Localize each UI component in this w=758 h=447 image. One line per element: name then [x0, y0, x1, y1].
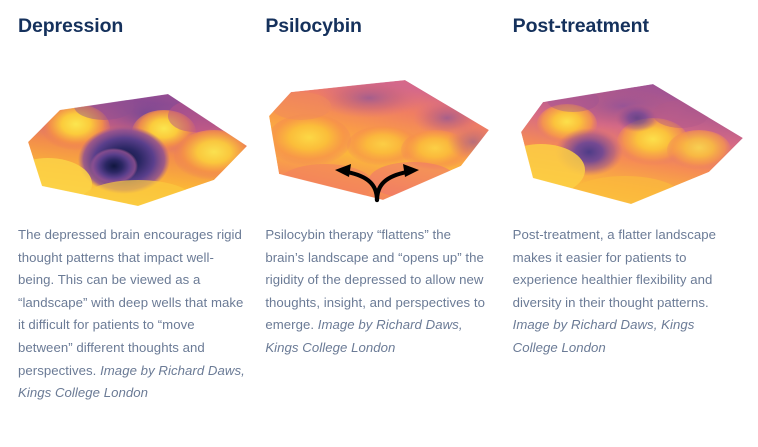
panel-depression: Depression — [8, 14, 255, 447]
three-panel-figure: Depression — [0, 0, 758, 447]
surface-plot-depression — [18, 54, 245, 214]
caption-body-post-treatment: Post-treatment, a flatter landscape make… — [513, 227, 716, 310]
page-title-depression: Depression — [18, 14, 245, 40]
panel-post-treatment: Post-treatment — [503, 14, 750, 447]
surface-plot-depression-svg — [18, 54, 251, 214]
diverging-arrows-svg — [327, 158, 427, 204]
caption-psilocybin: Psilocybin therapy “flattens” the brain’… — [265, 224, 492, 360]
page-title-psilocybin: Psilocybin — [265, 14, 492, 40]
surface-plot-psilocybin — [265, 54, 492, 214]
caption-depression: The depressed brain encourages rigid tho… — [18, 224, 245, 405]
panel-psilocybin: Psilocybin — [255, 14, 502, 447]
diverging-arrows-icon — [327, 158, 427, 204]
caption-post-treatment: Post-treatment, a flatter landscape make… — [513, 224, 740, 360]
surface-plot-post-treatment — [513, 54, 740, 214]
surface-body-post-treatment — [497, 82, 743, 216]
caption-body-depression: The depressed brain encourages rigid tho… — [18, 227, 243, 378]
page-title-post-treatment: Post-treatment — [513, 14, 740, 40]
surface-body-depression — [4, 80, 254, 220]
caption-credit-post-treatment: Image by Richard Daws, Kings College Lon… — [513, 317, 695, 355]
surface-plot-post-treatment-svg — [513, 54, 746, 214]
